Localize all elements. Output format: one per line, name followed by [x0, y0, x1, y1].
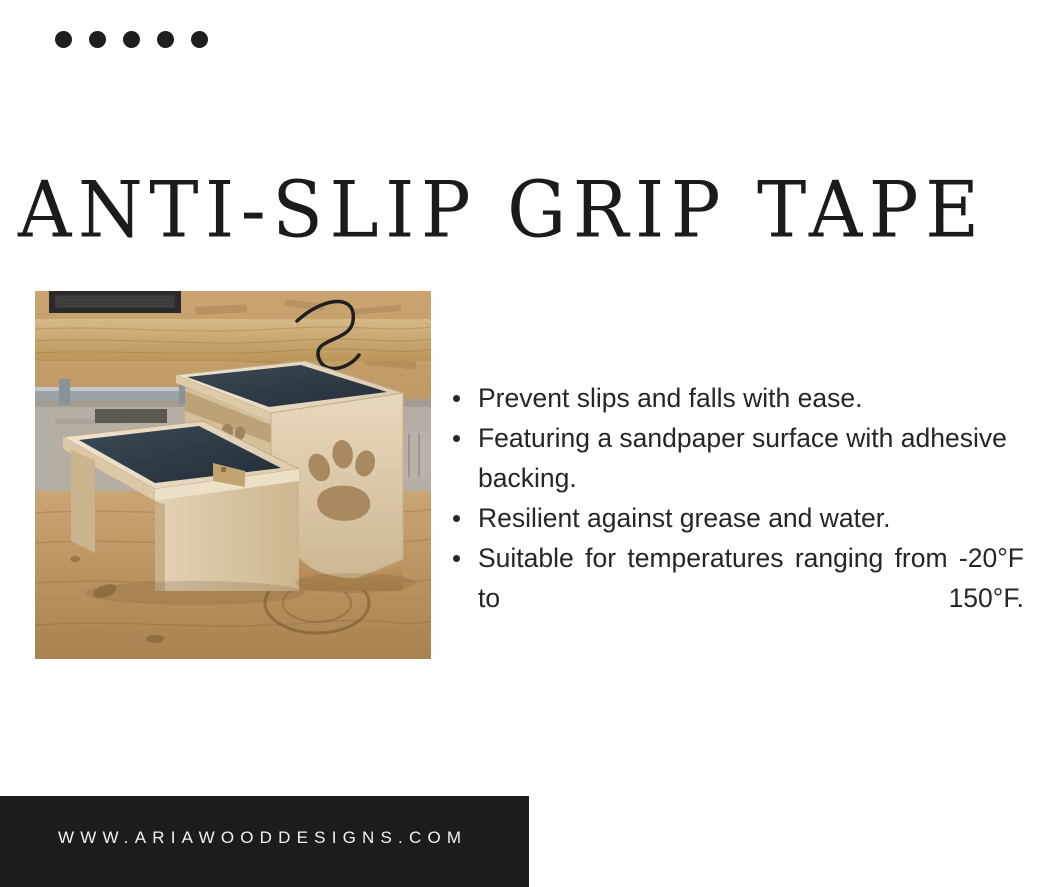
feature-text: Featuring a sandpaper surface with adhes… — [478, 423, 1007, 493]
feature-text: Resilient against grease and water. — [478, 503, 890, 533]
feature-text: Prevent slips and falls with ease. — [478, 383, 862, 413]
list-item: Featuring a sandpaper surface with adhes… — [452, 418, 1024, 498]
list-item: Resilient against grease and water. — [452, 498, 1024, 538]
decorative-dot — [191, 31, 208, 48]
product-photo-illustration — [35, 291, 431, 659]
feature-list: Prevent slips and falls with ease. Featu… — [452, 378, 1024, 658]
decorative-dot-row — [55, 31, 208, 48]
decorative-dot — [123, 31, 140, 48]
footer-website: WWW.ARIAWOODDESIGNS.COM — [58, 828, 467, 848]
page-title: ANTI-SLIP GRIP TAPE — [18, 168, 1043, 252]
product-photo — [35, 291, 431, 659]
list-item: Suitable for temperatures ranging from -… — [452, 538, 1024, 658]
decorative-dot — [89, 31, 106, 48]
list-item: Prevent slips and falls with ease. — [452, 378, 1024, 418]
decorative-dot — [157, 31, 174, 48]
feature-text: Suitable for temperatures ranging from -… — [478, 538, 1024, 658]
decorative-dot — [55, 31, 72, 48]
